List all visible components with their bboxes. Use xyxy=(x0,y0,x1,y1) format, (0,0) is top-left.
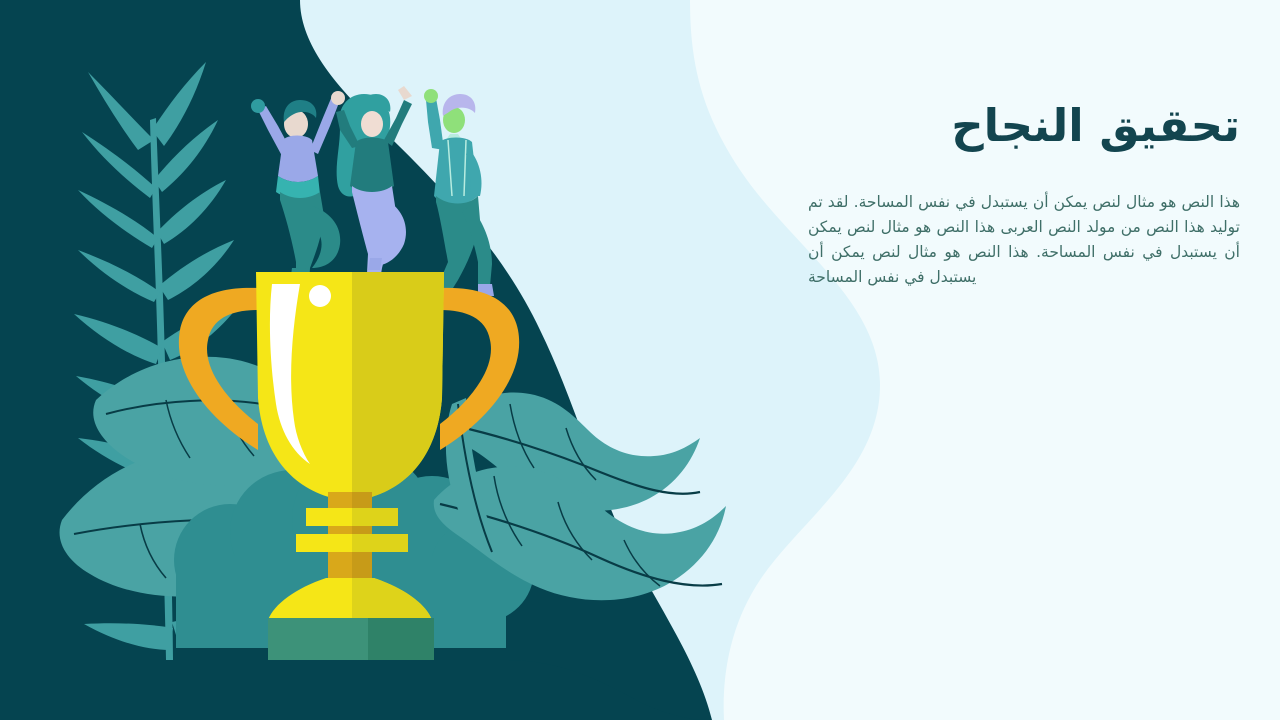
trophy-collar-lower-shade xyxy=(352,534,408,552)
body-paragraph: هذا النص هو مثال لنص يمكن أن يستبدل في ن… xyxy=(808,190,1240,290)
page-title: تحقيق النجاح xyxy=(808,100,1240,152)
slide-canvas: تحقيق النجاح هذا النص هو مثال لنص يمكن أ… xyxy=(0,0,1280,720)
text-column: تحقيق النجاح هذا النص هو مثال لنص يمكن أ… xyxy=(808,100,1240,290)
trophy-dot-highlight xyxy=(309,285,331,307)
trophy-base-shade xyxy=(368,618,434,662)
trophy-collar-upper-shade xyxy=(352,508,398,526)
